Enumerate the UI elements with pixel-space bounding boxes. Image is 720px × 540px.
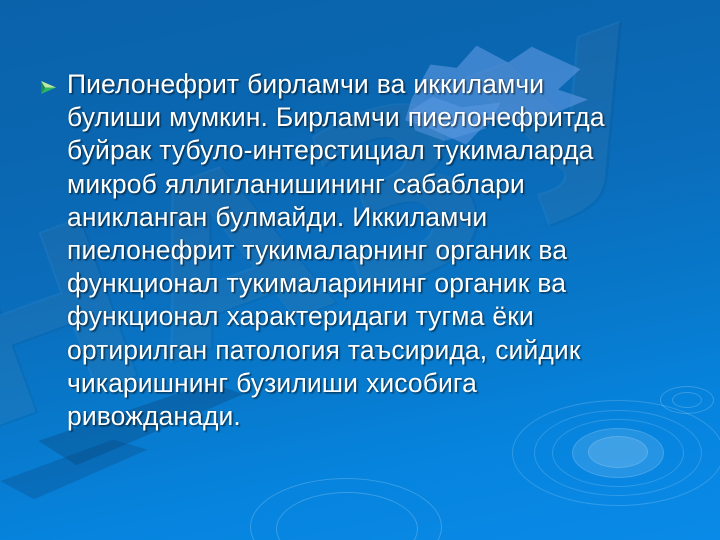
text-line: аникланган булмайди. Иккиламчи <box>67 201 660 234</box>
bullet-paragraph-text: Пиелонефрит бирламчи ва иккиламчи булиши… <box>67 68 660 433</box>
slide-body-placeholder: Пиелонефрит бирламчи ва иккиламчи булиши… <box>40 68 660 433</box>
ripple-corner-inner <box>276 492 418 540</box>
text-line: пиелонефрит тукималарнинг органик ва <box>67 234 660 267</box>
ripple-small-inner <box>672 392 702 408</box>
presentation-slide: НАЗУ Пиелонефрит бирламчи ва <box>0 0 720 540</box>
text-line: Пиелонефрит бирламчи ва иккиламчи <box>67 68 660 101</box>
text-line: буйрак тубуло-интерстициал тукималарда <box>67 134 660 167</box>
text-line: ортирилган патология таъсирида, сийдик <box>67 334 660 367</box>
green-arrow-bullet-icon <box>40 68 67 104</box>
ripple-ring-core <box>588 436 648 468</box>
ripple-ring-2 <box>572 428 664 478</box>
text-line: функционал характеридаги тугма ёки <box>67 300 660 333</box>
ripple-corner-outer <box>250 478 442 540</box>
text-line: булиши мумкин. Бирламчи пиелонефритда <box>67 101 660 134</box>
watermark-slab-shape-secondary <box>0 431 152 507</box>
ripple-small-outer <box>660 386 714 414</box>
text-line: ривожданади. <box>67 400 660 433</box>
text-line: микроб яллигланишининг сабаблари <box>67 168 660 201</box>
bullet-list-item: Пиелонефрит бирламчи ва иккиламчи булиши… <box>40 68 660 433</box>
text-line: функционал тукималарининг органик ва <box>67 267 660 300</box>
text-line: чикаришнинг бузилиши хисобига <box>67 367 660 400</box>
